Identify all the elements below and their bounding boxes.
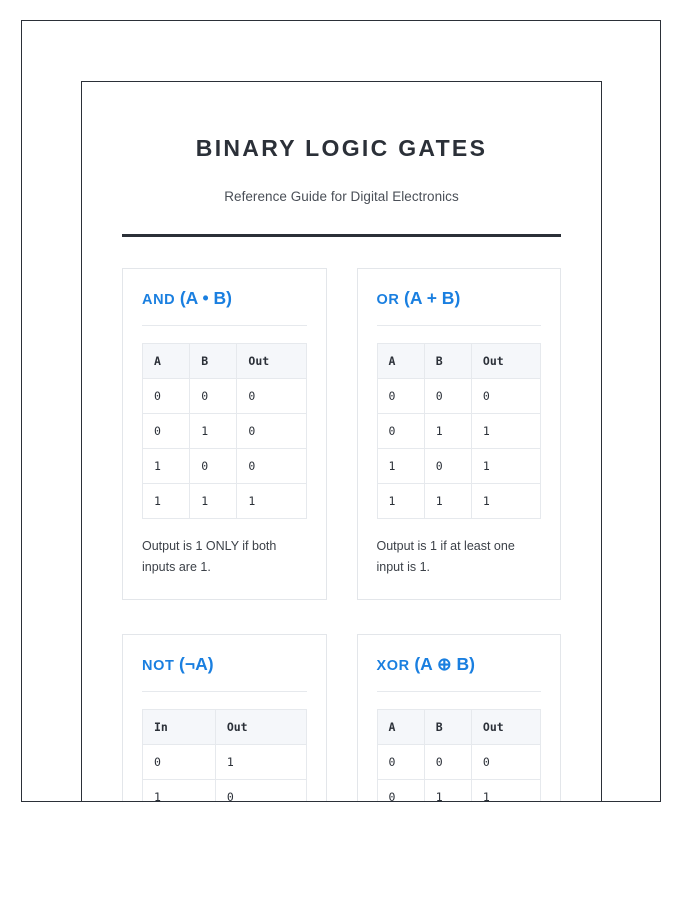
table-row: 111	[143, 483, 307, 518]
truth-table: InOut0110	[142, 709, 307, 802]
gate-expression: (A ⊕ B)	[414, 654, 475, 674]
truth-table: ABOut000011101110	[377, 709, 542, 802]
column-header: A	[377, 709, 424, 744]
gate-card-or: OR (A + B)ABOut000011101111Output is 1 i…	[357, 268, 562, 600]
gate-card-not: NOT (¬A)InOut0110Output is the inverse o…	[122, 634, 327, 802]
table-cell: 0	[377, 413, 424, 448]
column-header: Out	[215, 709, 306, 744]
card-divider	[142, 691, 307, 692]
table-cell: 1	[143, 483, 190, 518]
gate-description: Output is 1 ONLY if both inputs are 1.	[142, 536, 307, 579]
table-cell: 1	[143, 779, 216, 802]
gate-card-and: AND (A • B)ABOut000010100111Output is 1 …	[122, 268, 327, 600]
gate-heading: XOR (A ⊕ B)	[377, 654, 542, 675]
table-cell: 0	[237, 413, 306, 448]
column-header: A	[377, 343, 424, 378]
page-subtitle: Reference Guide for Digital Electronics	[122, 163, 561, 204]
column-header: Out	[471, 709, 540, 744]
column-header: B	[424, 709, 471, 744]
table-row: 011	[377, 779, 541, 802]
table-row: 100	[143, 448, 307, 483]
table-header-row: ABOut	[143, 343, 307, 378]
truth-table: ABOut000011101111	[377, 343, 542, 519]
table-header-row: ABOut	[377, 343, 541, 378]
page-content: BINARY LOGIC GATES Reference Guide for D…	[82, 82, 601, 802]
table-row: 000	[143, 378, 307, 413]
table-cell: 0	[471, 378, 540, 413]
table-header-row: ABOut	[377, 709, 541, 744]
table-cell: 0	[424, 744, 471, 779]
gate-expression: (¬A)	[179, 654, 214, 674]
table-cell: 1	[377, 483, 424, 518]
gate-name: NOT	[142, 658, 174, 674]
truth-table: ABOut000010100111	[142, 343, 307, 519]
gate-heading: OR (A + B)	[377, 288, 542, 309]
table-cell: 0	[143, 744, 216, 779]
table-cell: 1	[377, 448, 424, 483]
table-cell: 1	[143, 448, 190, 483]
table-row: 01	[143, 744, 307, 779]
table-cell: 0	[471, 744, 540, 779]
table-cell: 1	[471, 413, 540, 448]
table-row: 000	[377, 744, 541, 779]
table-cell: 0	[424, 448, 471, 483]
printable-area-frame: BINARY LOGIC GATES Reference Guide for D…	[21, 20, 661, 802]
table-cell: 0	[377, 779, 424, 802]
table-row: 010	[143, 413, 307, 448]
table-cell: 0	[377, 744, 424, 779]
table-cell: 0	[190, 378, 237, 413]
card-divider	[377, 325, 542, 326]
title-divider	[122, 234, 561, 237]
table-cell: 1	[424, 413, 471, 448]
page-title: BINARY LOGIC GATES	[122, 82, 561, 163]
table-cell: 0	[143, 413, 190, 448]
table-row: 011	[377, 413, 541, 448]
gate-name: XOR	[377, 658, 410, 674]
table-cell: 0	[377, 378, 424, 413]
card-divider	[377, 691, 542, 692]
table-cell: 0	[190, 448, 237, 483]
column-header: A	[143, 343, 190, 378]
gate-expression: (A + B)	[404, 288, 460, 308]
table-cell: 1	[424, 779, 471, 802]
gate-heading: NOT (¬A)	[142, 654, 307, 675]
table-row: 000	[377, 378, 541, 413]
table-cell: 1	[190, 413, 237, 448]
table-cell: 1	[471, 448, 540, 483]
table-cell: 0	[215, 779, 306, 802]
document-page: BINARY LOGIC GATES Reference Guide for D…	[81, 81, 602, 802]
gate-heading: AND (A • B)	[142, 288, 307, 309]
column-header: B	[190, 343, 237, 378]
table-row: 111	[377, 483, 541, 518]
card-divider	[142, 325, 307, 326]
column-header: Out	[471, 343, 540, 378]
column-header: In	[143, 709, 216, 744]
table-cell: 0	[237, 378, 306, 413]
table-cell: 0	[143, 378, 190, 413]
gate-name: AND	[142, 292, 175, 308]
column-header: B	[424, 343, 471, 378]
table-cell: 1	[190, 483, 237, 518]
gate-card-xor: XOR (A ⊕ B)ABOut000011101110Output is 1 …	[357, 634, 562, 802]
gate-name: OR	[377, 292, 400, 308]
table-cell: 0	[237, 448, 306, 483]
column-header: Out	[237, 343, 306, 378]
table-cell: 1	[215, 744, 306, 779]
table-cell: 1	[237, 483, 306, 518]
gate-expression: (A • B)	[180, 288, 232, 308]
table-row: 10	[143, 779, 307, 802]
table-header-row: InOut	[143, 709, 307, 744]
table-cell: 1	[471, 483, 540, 518]
table-row: 101	[377, 448, 541, 483]
table-cell: 1	[424, 483, 471, 518]
table-cell: 1	[471, 779, 540, 802]
gate-card-grid: AND (A • B)ABOut000010100111Output is 1 …	[122, 268, 561, 802]
table-cell: 0	[424, 378, 471, 413]
gate-description: Output is 1 if at least one input is 1.	[377, 536, 542, 579]
